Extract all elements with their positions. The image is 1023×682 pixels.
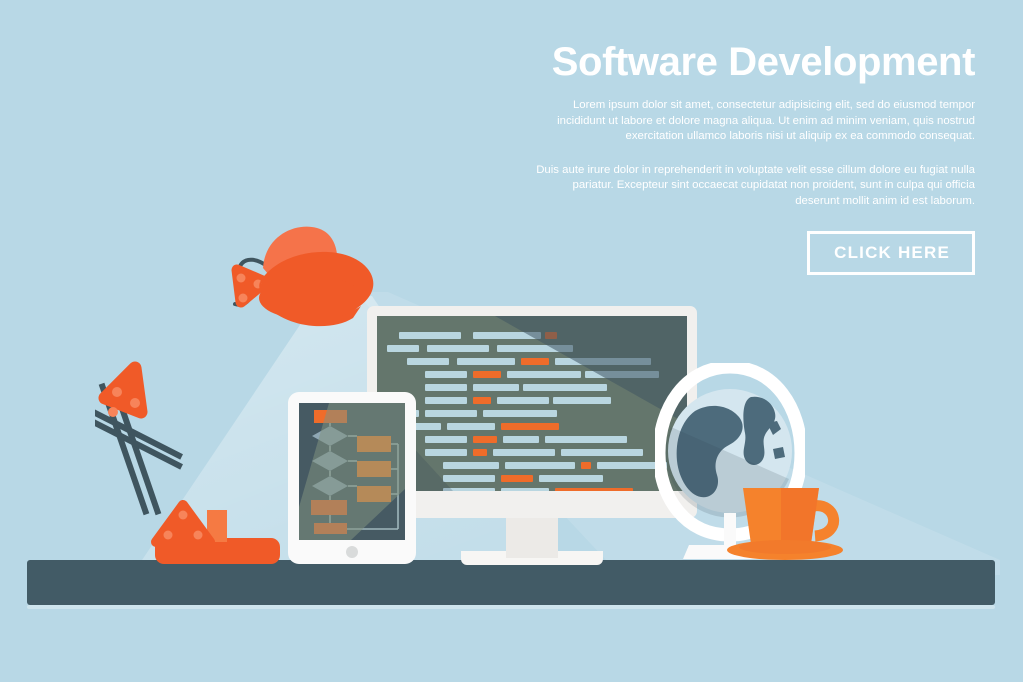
code-line-segment bbox=[427, 345, 489, 352]
code-line-segment bbox=[473, 384, 519, 391]
flowchart-process-node bbox=[357, 486, 391, 502]
code-line-segment bbox=[473, 397, 491, 404]
code-line-segment bbox=[425, 410, 477, 417]
flowchart-decision-node bbox=[312, 451, 348, 471]
code-line-segment bbox=[555, 488, 633, 491]
code-line-segment bbox=[585, 371, 659, 378]
flowchart-process-node bbox=[311, 500, 347, 515]
code-line-segment bbox=[581, 462, 591, 469]
flowchart-svg bbox=[299, 403, 405, 540]
monitor-screen bbox=[377, 316, 687, 491]
flowchart-decision-node bbox=[312, 426, 348, 446]
code-line-segment bbox=[505, 462, 575, 469]
page-title: Software Development bbox=[527, 42, 975, 82]
coffee-cup bbox=[725, 478, 855, 563]
code-line-segment bbox=[561, 449, 643, 456]
code-line-segment bbox=[425, 449, 467, 456]
desktop-monitor bbox=[367, 306, 697, 564]
monitor-neck bbox=[506, 518, 558, 558]
code-line-segment bbox=[473, 371, 501, 378]
tablet-device bbox=[288, 392, 416, 564]
tablet-body bbox=[288, 392, 416, 564]
code-line-segment bbox=[399, 332, 461, 339]
header-text-block: Software Development Lorem ipsum dolor s… bbox=[527, 42, 975, 275]
code-line-segment bbox=[457, 358, 515, 365]
code-line-segment bbox=[493, 449, 555, 456]
code-line-segment bbox=[545, 436, 627, 443]
code-line-segment bbox=[503, 436, 539, 443]
click-here-button[interactable]: CLICK HERE bbox=[807, 231, 975, 275]
code-line-segment bbox=[501, 488, 549, 491]
flowchart-process-node bbox=[357, 436, 391, 452]
code-line-segment bbox=[539, 475, 603, 482]
code-line-segment bbox=[425, 436, 467, 443]
code-line-segment bbox=[407, 358, 449, 365]
tablet-screen bbox=[299, 403, 405, 540]
code-line-segment bbox=[473, 436, 497, 443]
code-line-segment bbox=[497, 345, 573, 352]
flowchart-decision-node bbox=[312, 476, 348, 496]
monitor-bezel bbox=[367, 306, 697, 518]
code-line-segment bbox=[501, 475, 533, 482]
code-line-segment bbox=[497, 397, 549, 404]
code-line-segment bbox=[443, 462, 499, 469]
code-line-segment bbox=[473, 332, 541, 339]
code-line-segment bbox=[555, 358, 651, 365]
code-line-segment bbox=[425, 397, 467, 404]
header-paragraph-2: Duis aute irure dolor in reprehenderit i… bbox=[527, 163, 975, 210]
flowchart-process-node bbox=[314, 523, 347, 534]
flowchart-process-node bbox=[357, 461, 391, 477]
code-line-segment bbox=[501, 423, 559, 430]
code-line-segment bbox=[523, 384, 607, 391]
code-line-segment bbox=[443, 475, 495, 482]
code-line-segment bbox=[473, 449, 487, 456]
tablet-home-button[interactable] bbox=[346, 546, 358, 558]
illustration-canvas: Software Development Lorem ipsum dolor s… bbox=[0, 0, 1023, 682]
code-line-segment bbox=[387, 345, 419, 352]
code-line-segment bbox=[483, 410, 557, 417]
desk-highlight bbox=[27, 605, 995, 609]
code-line-segment bbox=[507, 371, 581, 378]
code-line-segment bbox=[443, 488, 495, 491]
code-line-segment bbox=[425, 371, 467, 378]
code-line-segment bbox=[545, 332, 557, 339]
code-line-segment bbox=[447, 423, 495, 430]
header-paragraph-1: Lorem ipsum dolor sit amet, consectetur … bbox=[527, 98, 975, 145]
code-line-segment bbox=[521, 358, 549, 365]
flowchart-process-node bbox=[314, 410, 347, 423]
code-line-segment bbox=[425, 384, 467, 391]
code-line-segment bbox=[553, 397, 611, 404]
